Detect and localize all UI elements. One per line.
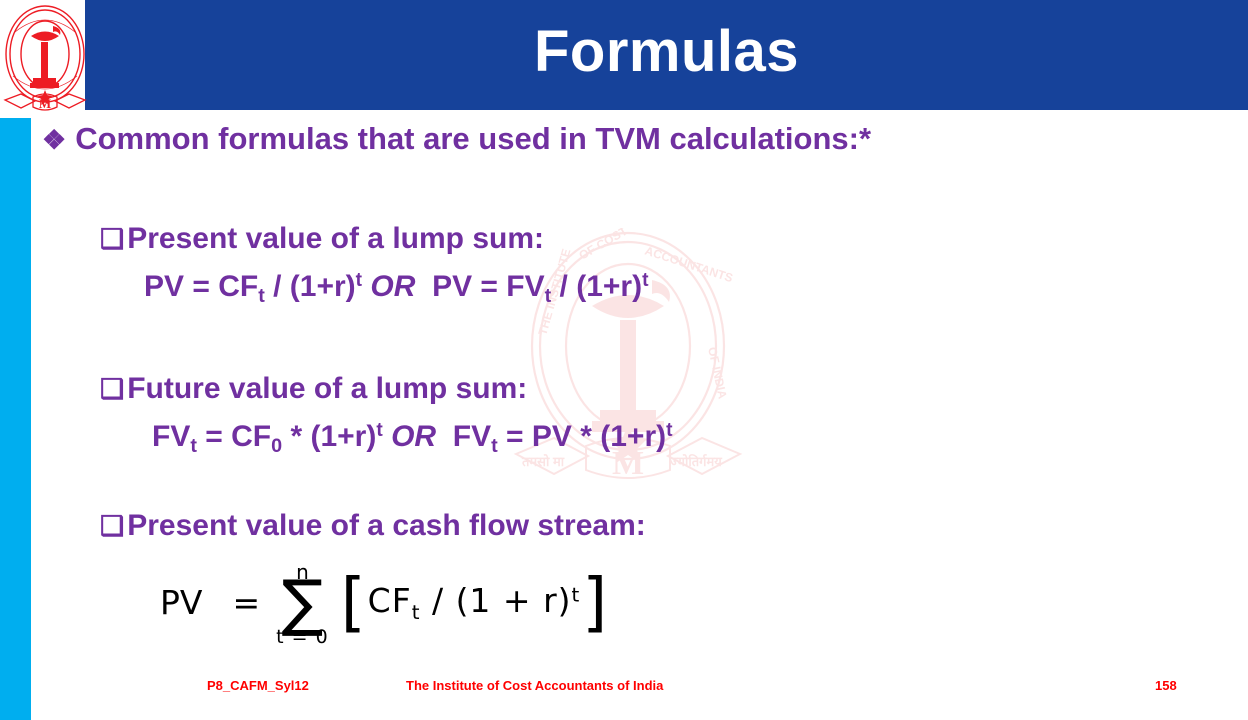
- formula-b-sub: t: [491, 435, 498, 457]
- equation-denominator: (1 + r): [456, 581, 572, 620]
- slide-body: ❖ Common formulas that are used in TVM c…: [0, 110, 1248, 660]
- bracket-open: [: [341, 584, 366, 622]
- lead-bullet-line: ❖ Common formulas that are used in TVM c…: [42, 121, 871, 157]
- bracket-close: ]: [582, 584, 607, 622]
- bullet-present-value-lump-sum: ❑ Present value of a lump sum:: [100, 222, 544, 256]
- formula-a-sub: t: [258, 285, 265, 307]
- equation-expression: CFt / (1 + r)t: [368, 581, 581, 624]
- slide-canvas: Formulas: [0, 0, 1248, 720]
- formula-a-lhs: FV: [152, 420, 190, 453]
- diamond-bullet-icon: ❖: [42, 127, 66, 154]
- formula-a-sub1: t: [190, 435, 197, 457]
- formula-b-sup: t: [666, 420, 672, 441]
- square-bullet-icon: ❑: [100, 226, 124, 253]
- formula-future-value-lump-sum: FVt = CF0 * (1+r)t OR FVt = PV * (1+r)t: [152, 420, 673, 458]
- formula-b-mid: = PV * (1+r): [498, 420, 666, 453]
- lead-bullet-text: Common formulas that are used in TVM cal…: [75, 121, 871, 157]
- formula-b-sup: t: [642, 270, 648, 291]
- formula-a-lhs: PV = CF: [144, 270, 258, 303]
- formula-a-mid2: * (1+r): [282, 420, 376, 453]
- formula-a-sub2: 0: [271, 435, 282, 457]
- bullet-heading: Present value of a cash flow stream:: [127, 509, 646, 543]
- page-title: Formulas: [85, 0, 1248, 110]
- sigma-lower-limit: t = 0: [276, 628, 329, 647]
- summation-equation: PV = n ∑ t = 0 [ CFt / (1 + r)t ]: [160, 560, 607, 645]
- footer-subject-code: P8_CAFM_Syl12: [207, 678, 309, 693]
- formula-b-mid: / (1+r): [551, 270, 642, 303]
- bullet-present-value-cash-flow-stream: ❑ Present value of a cash flow stream:: [100, 509, 646, 543]
- bullet-heading: Present value of a lump sum:: [127, 222, 544, 256]
- formula-a-mid: / (1+r): [265, 270, 356, 303]
- formula-a-mid1: = CF: [197, 420, 271, 453]
- formula-a-sup: t: [376, 420, 382, 441]
- equation-denominator-sup: t: [572, 584, 581, 607]
- bullet-future-value-lump-sum: ❑ Future value of a lump sum:: [100, 372, 527, 406]
- formula-b-lhs: FV: [453, 420, 491, 453]
- formula-b-lhs: PV = FV: [432, 270, 545, 303]
- formula-a-sup: t: [356, 270, 362, 291]
- formula-connector: OR: [370, 270, 415, 303]
- institute-logo: M: [3, 2, 87, 118]
- formula-present-value-lump-sum: PV = CFt / (1+r)t OR PV = FVt / (1+r)t: [144, 270, 648, 308]
- footer-institute-name: The Institute of Cost Accountants of Ind…: [406, 678, 663, 693]
- square-bullet-icon: ❑: [100, 513, 124, 540]
- footer-page-number: 158: [1155, 678, 1177, 693]
- sigma-icon: ∑: [282, 578, 324, 629]
- square-bullet-icon: ❑: [100, 376, 124, 403]
- formula-connector: OR: [391, 420, 436, 453]
- sigma-operator: n ∑ t = 0: [276, 562, 329, 647]
- equation-slash: /: [420, 581, 455, 620]
- slide-footer: P8_CAFM_Syl12 The Institute of Cost Acco…: [0, 678, 1248, 704]
- equation-lhs: PV: [160, 583, 202, 622]
- equation-numerator: CF: [368, 581, 412, 620]
- equation-equals: =: [232, 583, 260, 622]
- bullet-heading: Future value of a lump sum:: [127, 372, 527, 406]
